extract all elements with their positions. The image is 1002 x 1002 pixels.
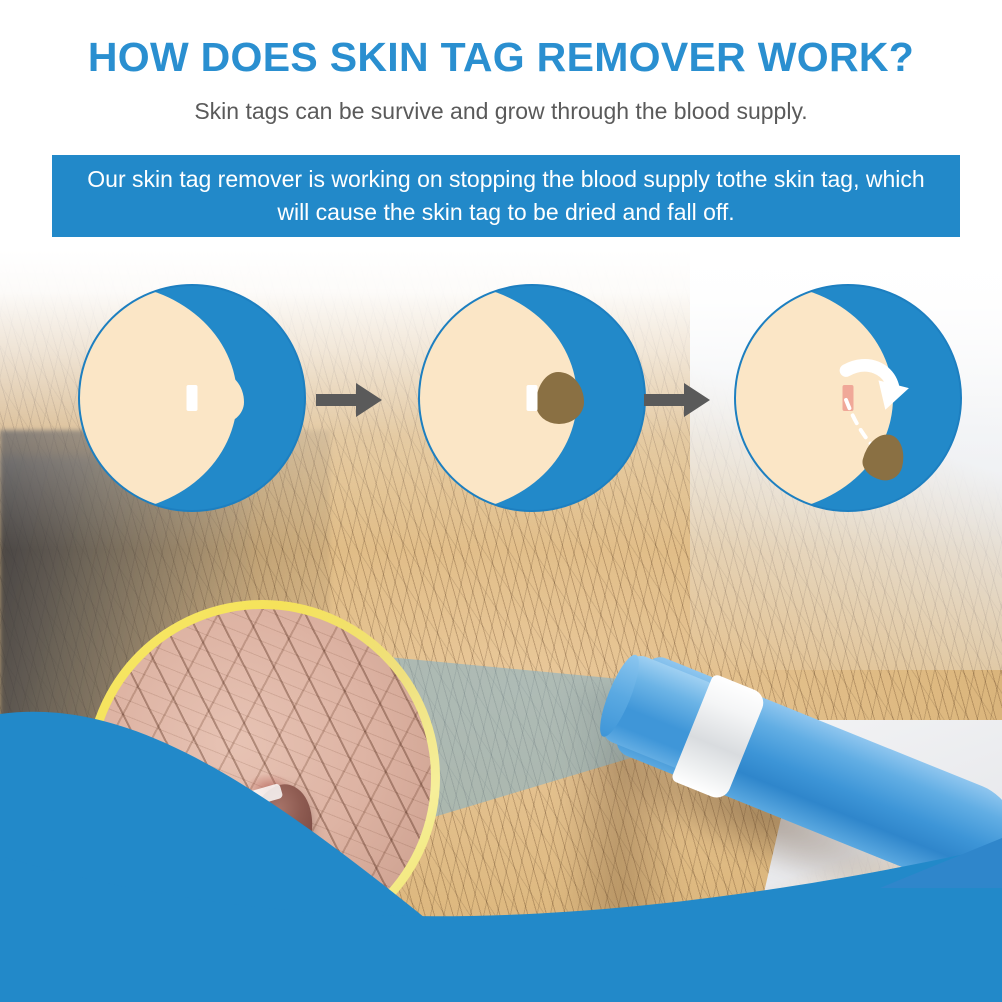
step-1-diagram	[78, 284, 306, 512]
skin-tag-stalk-icon	[187, 385, 198, 411]
skin-tag-stalk-icon	[527, 385, 538, 411]
dried-skin-tag-icon	[536, 372, 584, 424]
skin-tag-icon	[196, 372, 244, 424]
step-arrow-2-icon	[644, 383, 710, 417]
fall-trajectory-icon	[736, 286, 960, 510]
step-arrow-1-icon	[316, 383, 382, 417]
bottom-blue-wave	[0, 840, 1002, 1002]
explanation-banner: Our skin tag remover is working on stopp…	[52, 155, 960, 237]
page-subtitle: Skin tags can be survive and grow throug…	[0, 98, 1002, 125]
bottom-right-blue-corner	[880, 838, 1002, 888]
infographic-poster: HOW DOES SKIN TAG REMOVER WORK? Skin tag…	[0, 0, 1002, 1002]
explanation-banner-text: Our skin tag remover is working on stopp…	[81, 163, 931, 229]
step-3-diagram	[734, 284, 962, 512]
step-2-diagram	[418, 284, 646, 512]
page-title: HOW DOES SKIN TAG REMOVER WORK?	[0, 34, 1002, 81]
